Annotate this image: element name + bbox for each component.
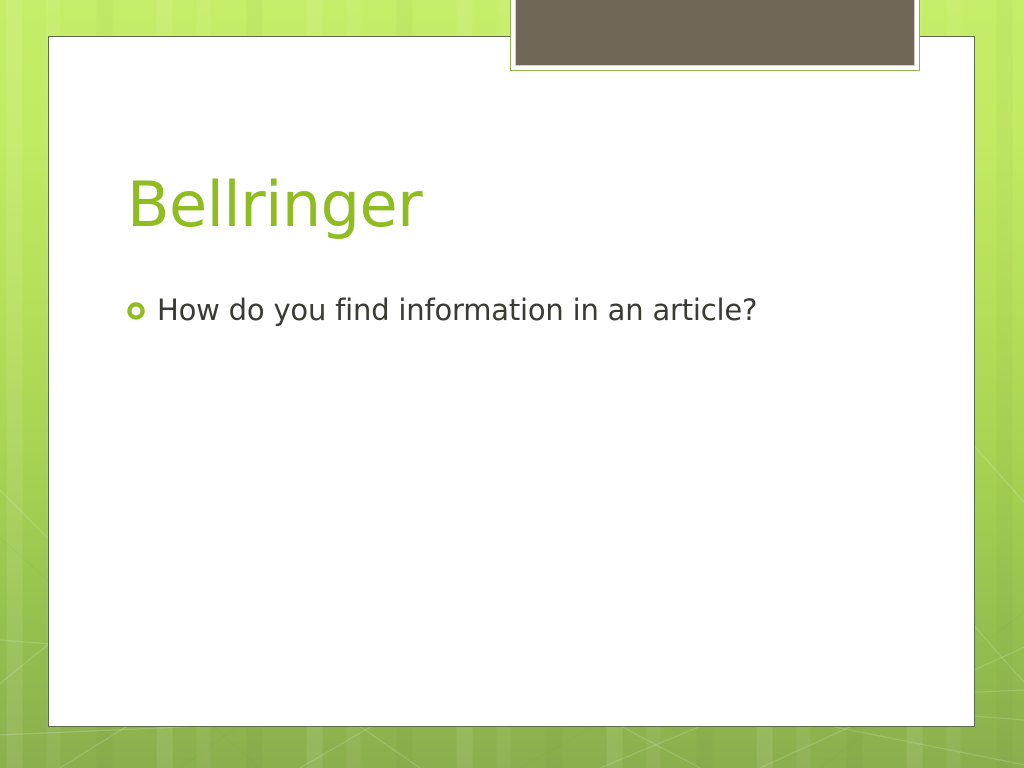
page-title: Bellringer	[127, 169, 927, 240]
header-decoration-frame	[510, 0, 920, 71]
ring-bullet-icon	[127, 302, 145, 324]
list-item: How do you find information in an articl…	[127, 292, 957, 328]
header-decoration-fill	[515, 0, 915, 66]
slide-canvas: Bellringer How do you find information i…	[0, 0, 1024, 768]
slide-body: How do you find information in an articl…	[127, 292, 957, 342]
slide-sheet: Bellringer How do you find information i…	[48, 36, 975, 727]
list-item-label: How do you find information in an articl…	[157, 292, 757, 328]
